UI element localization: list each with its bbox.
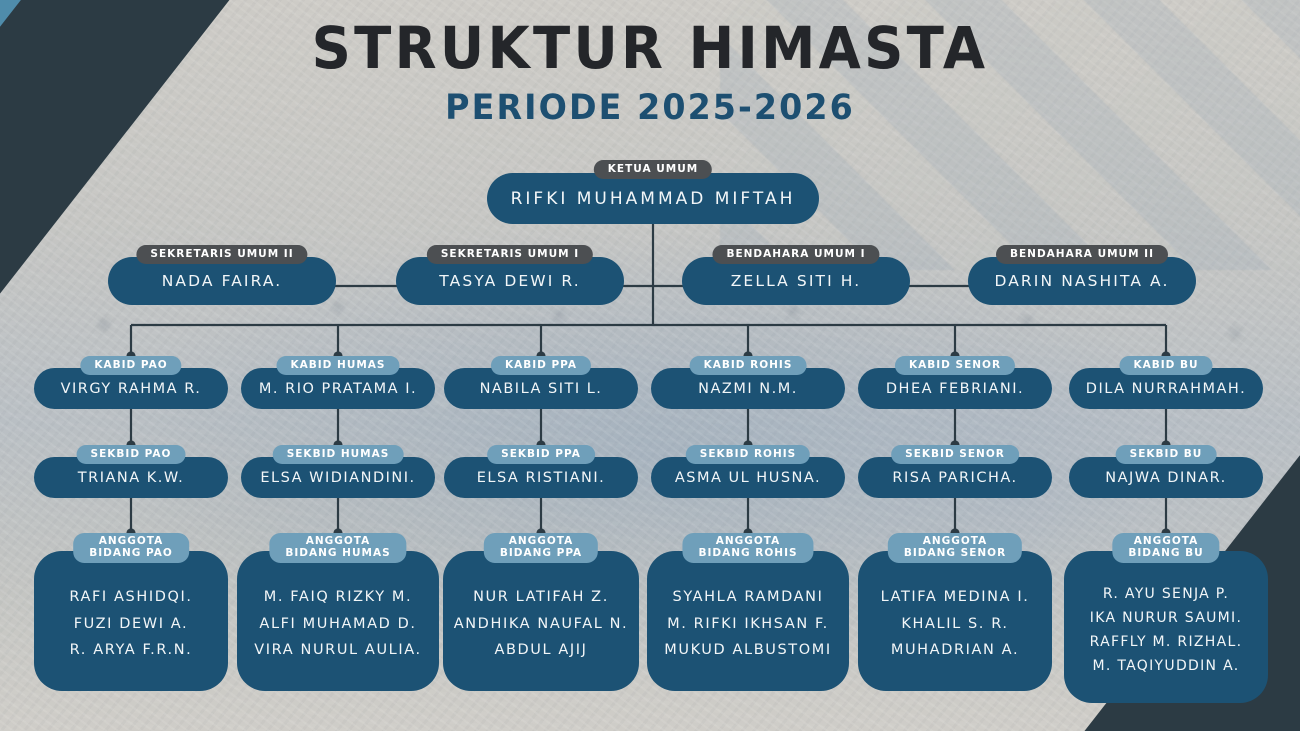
person-name: DARIN NASHITA A.	[994, 272, 1169, 290]
poster-heading: STRUKTUR HIMASTA PERIODE 2025-2026	[0, 18, 1300, 128]
tag-bendahara-umum-2: BENDAHARA UMUM II	[996, 245, 1168, 264]
member-name: MUHADRIAN A.	[864, 642, 1046, 659]
person-name: DHEA FEBRIANI.	[886, 381, 1024, 397]
tag-sekbid-humas: SEKBID HUMAS	[273, 445, 404, 464]
member-name: NUR LATIFAH Z.	[449, 589, 633, 606]
box-anggota-humas[interactable]: M. FAIQ RIZKY M. ALFI MUHAMAD D. VIRA NU…	[237, 551, 439, 691]
member-name: FUZI DEWI A.	[40, 616, 222, 633]
tag-anggota-ppa: ANGGOTA BIDANG PPA	[484, 533, 598, 563]
person-name: NADA FAIRA.	[162, 272, 283, 290]
org-chart-poster: STRUKTUR HIMASTA PERIODE 2025-2026	[0, 0, 1300, 731]
tag-sekbid-ppa: SEKBID PPA	[487, 445, 595, 464]
tag-line-2: BIDANG HUMAS	[285, 547, 390, 559]
tag-kabid-bu: KABID BU	[1119, 356, 1212, 375]
box-sekretaris-umum-2[interactable]: NADA FAIRA.	[108, 257, 336, 305]
person-name: RIFKI MUHAMMAD MIFTAH	[511, 189, 796, 209]
person-name: TRIANA K.W.	[78, 470, 184, 486]
tag-line-1: ANGGOTA	[306, 535, 371, 547]
box-anggota-ppa[interactable]: NUR LATIFAH Z. ANDHIKA NAUFAL N. ABDUL A…	[443, 551, 639, 691]
box-sekretaris-umum-1[interactable]: TASYA DEWI R.	[396, 257, 624, 305]
member-name: SYAHLA RAMDANI	[653, 589, 843, 606]
tag-line-2: BIDANG BU	[1128, 547, 1203, 559]
box-bendahara-umum-2[interactable]: DARIN NASHITA A.	[968, 257, 1196, 305]
member-list: SYAHLA RAMDANI M. RIFKI IKHSAN F. MUKUD …	[647, 579, 849, 663]
tag-line-1: ANGGOTA	[923, 535, 988, 547]
tag-sekbid-rohis: SEKBID ROHIS	[686, 445, 810, 464]
tag-kabid-humas: KABID HUMAS	[277, 356, 400, 375]
tag-sekbid-senor: SEKBID SENOR	[891, 445, 1019, 464]
tag-line-1: ANGGOTA	[509, 535, 574, 547]
box-bendahara-umum-1[interactable]: ZELLA SITI H.	[682, 257, 910, 305]
tag-sekretaris-umum-2: SEKRETARIS UMUM II	[136, 245, 307, 264]
box-ketua-umum[interactable]: RIFKI MUHAMMAD MIFTAH	[487, 173, 819, 224]
tag-line-2: BIDANG PPA	[500, 547, 582, 559]
member-name: KHALIL S. R.	[864, 616, 1046, 633]
member-list: LATIFA MEDINA I. KHALIL S. R. MUHADRIAN …	[858, 579, 1052, 663]
tag-line-1: ANGGOTA	[1134, 535, 1199, 547]
page-subtitle: PERIODE 2025-2026	[33, 88, 1268, 128]
tag-kabid-senor: KABID SENOR	[895, 356, 1015, 375]
tag-line-2: BIDANG SENOR	[904, 547, 1006, 559]
tag-line-2: BIDANG PAO	[89, 547, 173, 559]
tag-line-1: ANGGOTA	[716, 535, 781, 547]
member-name: M. RIFKI IKHSAN F.	[653, 616, 843, 633]
member-list: NUR LATIFAH Z. ANDHIKA NAUFAL N. ABDUL A…	[443, 579, 639, 663]
tag-ketua-umum: KETUA UMUM	[594, 160, 712, 179]
member-name: IKA NURUR SAUMI.	[1070, 610, 1262, 626]
tag-anggota-humas: ANGGOTA BIDANG HUMAS	[269, 533, 406, 563]
member-list: RAFI ASHIDQI. FUZI DEWI A. R. ARYA F.R.N…	[34, 579, 228, 663]
tag-sekretaris-umum-1: SEKRETARIS UMUM I	[427, 245, 593, 264]
member-list: R. AYU SENJA P. IKA NURUR SAUMI. RAFFLY …	[1064, 576, 1268, 678]
member-name: R. AYU SENJA P.	[1070, 586, 1262, 602]
tag-anggota-senor: ANGGOTA BIDANG SENOR	[888, 533, 1022, 563]
tag-sekbid-pao: SEKBID PAO	[77, 445, 186, 464]
tag-sekbid-bu: SEKBID BU	[1116, 445, 1217, 464]
box-anggota-rohis[interactable]: SYAHLA RAMDANI M. RIFKI IKHSAN F. MUKUD …	[647, 551, 849, 691]
member-name: LATIFA MEDINA I.	[864, 589, 1046, 606]
box-anggota-bu[interactable]: R. AYU SENJA P. IKA NURUR SAUMI. RAFFLY …	[1064, 551, 1268, 703]
member-name: RAFI ASHIDQI.	[40, 589, 222, 606]
person-name: NABILA SITI L.	[480, 381, 603, 397]
box-anggota-senor[interactable]: LATIFA MEDINA I. KHALIL S. R. MUHADRIAN …	[858, 551, 1052, 691]
member-name: R. ARYA F.R.N.	[40, 642, 222, 659]
page-title: STRUKTUR HIMASTA	[39, 18, 1261, 79]
tag-line-2: BIDANG ROHIS	[698, 547, 797, 559]
person-name: ZELLA SITI H.	[731, 272, 862, 290]
member-name: ALFI MUHAMAD D.	[243, 616, 433, 633]
tag-kabid-pao: KABID PAO	[80, 356, 181, 375]
member-name: RAFFLY M. RIZHAL.	[1070, 634, 1262, 650]
member-name: M. FAIQ RIZKY M.	[243, 589, 433, 606]
person-name: DILA NURRAHMAH.	[1086, 381, 1246, 397]
tag-anggota-rohis: ANGGOTA BIDANG ROHIS	[682, 533, 813, 563]
person-name: M. RIO PRATAMA I.	[259, 381, 417, 397]
member-list: M. FAIQ RIZKY M. ALFI MUHAMAD D. VIRA NU…	[237, 579, 439, 663]
person-name: NAJWA DINAR.	[1105, 470, 1227, 486]
member-name: VIRA NURUL AULIA.	[243, 642, 433, 659]
member-name: ANDHIKA NAUFAL N.	[449, 616, 633, 633]
tag-anggota-bu: ANGGOTA BIDANG BU	[1112, 533, 1219, 563]
person-name: ELSA WIDIANDINI.	[260, 470, 415, 486]
person-name: NAZMI N.M.	[698, 381, 798, 397]
tag-kabid-rohis: KABID ROHIS	[690, 356, 807, 375]
person-name: VIRGY RAHMA R.	[61, 381, 202, 397]
tag-kabid-ppa: KABID PPA	[491, 356, 591, 375]
tag-line-1: ANGGOTA	[99, 535, 164, 547]
tag-anggota-pao: ANGGOTA BIDANG PAO	[73, 533, 189, 563]
person-name: RISA PARICHA.	[892, 470, 1017, 486]
person-name: TASYA DEWI R.	[439, 272, 581, 290]
member-name: ABDUL AJIJ	[449, 642, 633, 659]
tag-bendahara-umum-1: BENDAHARA UMUM I	[712, 245, 879, 264]
person-name: ASMA UL HUSNA.	[675, 470, 821, 486]
member-name: M. TAQIYUDDIN A.	[1070, 658, 1262, 674]
box-anggota-pao[interactable]: RAFI ASHIDQI. FUZI DEWI A. R. ARYA F.R.N…	[34, 551, 228, 691]
member-name: MUKUD ALBUSTOMI	[653, 642, 843, 659]
person-name: ELSA RISTIANI.	[477, 470, 606, 486]
